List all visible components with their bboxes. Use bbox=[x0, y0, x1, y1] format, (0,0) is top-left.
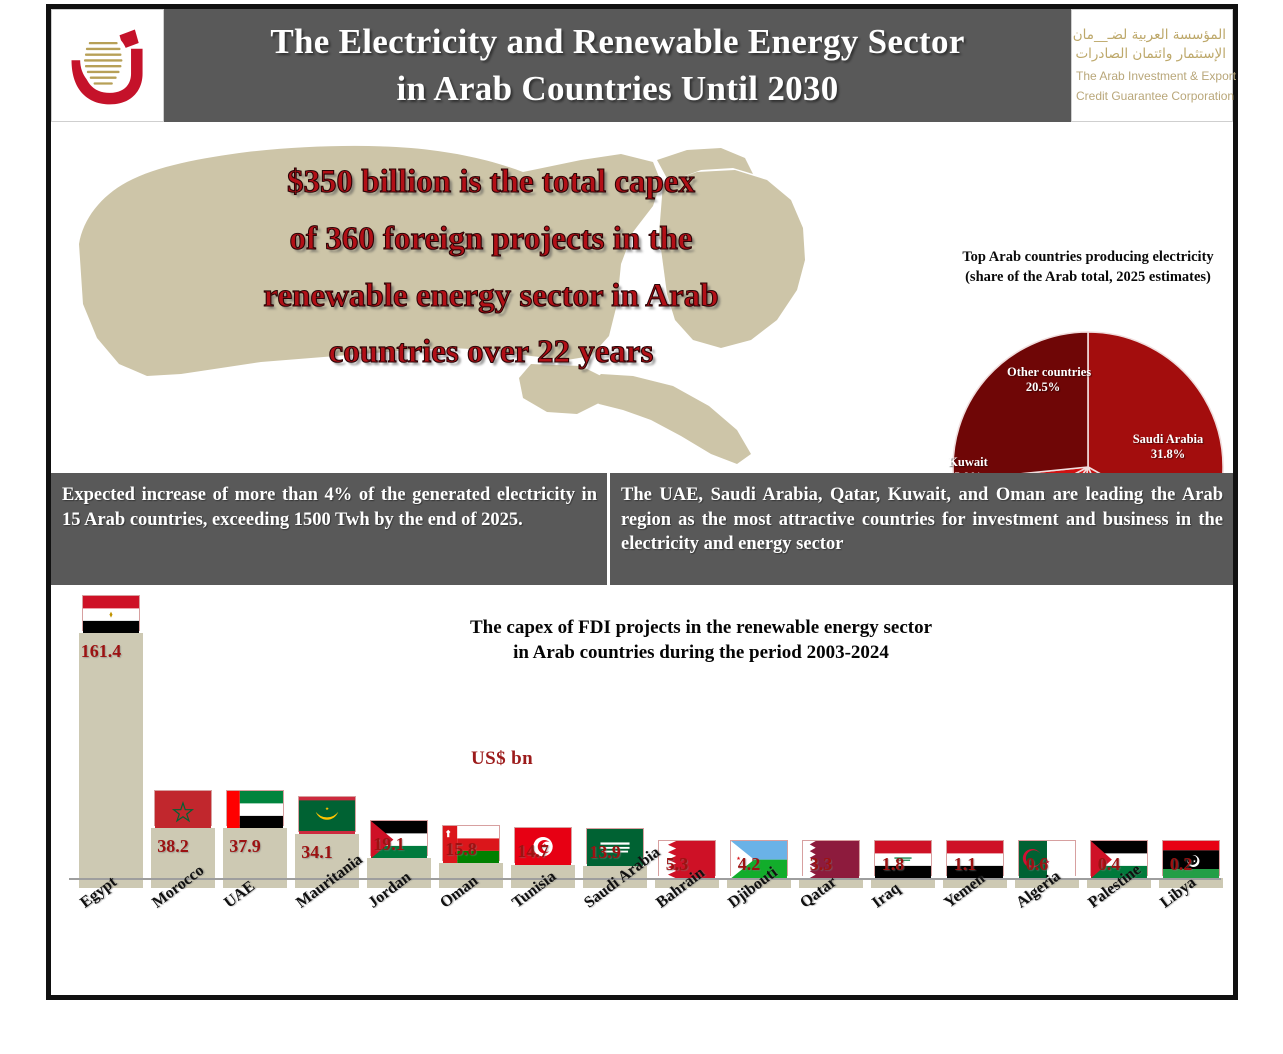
bar-value-egypt: 161.4 bbox=[81, 641, 122, 662]
dhaman-arabic-letter-logo-icon bbox=[60, 18, 156, 114]
bar-column-egypt bbox=[79, 595, 143, 888]
mauritania-flag bbox=[298, 796, 356, 832]
headline-line-4: countries over 22 years bbox=[121, 324, 861, 381]
pie-label-other-countries: Other countries 20.5% bbox=[1007, 365, 1079, 395]
headline-line-1: $350 billion is the total capex bbox=[121, 154, 861, 211]
pie-label-other-countries-name: Other countries bbox=[1007, 365, 1091, 379]
pie-chart-title-line-2: (share of the Arab total, 2025 estimates… bbox=[923, 268, 1233, 288]
header-title-line-2: in Arab Countries Until 2030 bbox=[396, 66, 838, 112]
bar-value-mauritania: 34.1 bbox=[301, 842, 333, 863]
egypt-flag bbox=[82, 595, 140, 631]
bar-value-algeria: 0.6 bbox=[1026, 854, 1049, 875]
fdi-capex-bar-chart: The capex of FDI projects in the renewab… bbox=[51, 588, 1233, 995]
header-title-line-1: The Electricity and Renewable Energy Sec… bbox=[270, 19, 964, 65]
bar-value-uae: 37.9 bbox=[229, 836, 261, 857]
electricity-share-pie-chart: Top Arab countries producing electricity… bbox=[923, 248, 1233, 473]
bar-value-djibouti: 4.2 bbox=[738, 854, 761, 875]
bar-egypt bbox=[79, 633, 143, 888]
header-title: The Electricity and Renewable Energy Sec… bbox=[164, 9, 1071, 122]
bar-value-morocco: 38.2 bbox=[157, 836, 189, 857]
bar-value-tunisia: 14.7 bbox=[517, 841, 549, 862]
bar-value-iraq: 1.8 bbox=[882, 854, 905, 875]
infographic-page: The Electricity and Renewable Energy Sec… bbox=[0, 0, 1283, 1054]
pie-chart-title-line-1: Top Arab countries producing electricity bbox=[923, 248, 1233, 268]
statement-panel-attractive-countries: The UAE, Saudi Arabia, Qatar, Kuwait, an… bbox=[610, 473, 1233, 585]
org-name-arabic-line-1: المؤسسة العربية لضـ__مان bbox=[1076, 26, 1226, 46]
header-bar: The Electricity and Renewable Energy Sec… bbox=[51, 9, 1233, 122]
bar-value-palestine: 0.4 bbox=[1098, 854, 1121, 875]
org-identity-block: المؤسسة العربية لضـ__مان الإستثمار وائتم… bbox=[1071, 9, 1233, 122]
headline-line-3: renewable energy sector in Arab bbox=[121, 268, 861, 325]
pie-label-saudi-arabia-name: Saudi Arabia bbox=[1133, 432, 1204, 446]
org-name-english-line-1: The Arab Investment & Export bbox=[1076, 68, 1226, 85]
pie-slice-other-countries bbox=[953, 332, 1088, 473]
bar-value-saudi-arabia: 13.9 bbox=[589, 842, 621, 863]
pie-label-kuwait-name: Kuwait bbox=[948, 455, 988, 469]
pie-stage: Saudi Arabia 31.8% Egypt 14.2% UAE 12.2%… bbox=[923, 287, 1233, 473]
pie-label-saudi-arabia-value: 31.8% bbox=[1151, 447, 1185, 461]
pie-label-other-countries-value: 20.5% bbox=[1026, 380, 1060, 394]
pie-label-saudi-arabia: Saudi Arabia 31.8% bbox=[1123, 432, 1213, 462]
pie-label-kuwait: Kuwait 5.9% bbox=[937, 455, 999, 473]
bar-value-yemen: 1.1 bbox=[954, 854, 977, 875]
bar-value-jordan: 19.1 bbox=[373, 834, 405, 855]
headline-line-2: of 360 foreign projects in the bbox=[121, 211, 861, 268]
bar-value-bahrain: 5.3 bbox=[666, 854, 689, 875]
bar-value-oman: 15.8 bbox=[445, 839, 477, 860]
bar-value-qatar: 3.3 bbox=[810, 854, 833, 875]
dhaman-logo bbox=[51, 9, 164, 122]
statement-panel-electricity-growth: Expected increase of more than 4% of the… bbox=[51, 473, 607, 585]
bar-value-libya: 0.2 bbox=[1170, 854, 1193, 875]
statement-panels: Expected increase of more than 4% of the… bbox=[51, 473, 1233, 585]
uae-flag bbox=[226, 790, 284, 826]
org-name-english-line-2: Credit Guarantee Corporation bbox=[1076, 88, 1226, 105]
headline-statement: $350 billion is the total capex of 360 f… bbox=[121, 154, 861, 381]
org-name-arabic-line-2: الإستثمار وائتمان الصادرات bbox=[1076, 45, 1226, 65]
map-headline-band: $350 billion is the total capex of 360 f… bbox=[51, 122, 1233, 473]
morocco-flag bbox=[154, 790, 212, 826]
